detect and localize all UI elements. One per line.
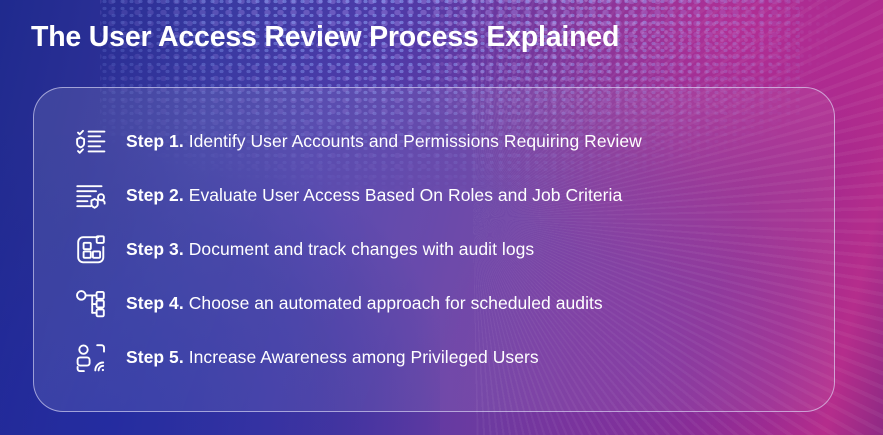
- list-item: Step 5.Increase Awareness among Privileg…: [74, 331, 834, 385]
- step-label: Step 5.: [126, 347, 184, 367]
- list-item-text: Step 3.Document and track changes with a…: [126, 239, 534, 260]
- list-item: Step 4.Choose an automated approach for …: [74, 277, 834, 331]
- steps-card: Step 1.Identify User Accounts and Permis…: [33, 87, 835, 412]
- user-broadcast-icon: [74, 341, 108, 375]
- blocks-panel-icon: [74, 233, 108, 267]
- list-item-text: Step 1.Identify User Accounts and Permis…: [126, 131, 642, 152]
- checklist-shield-icon: [74, 125, 108, 159]
- page-root: The User Access Review Process Explained…: [0, 0, 883, 435]
- hierarchy-flow-icon: [74, 287, 108, 321]
- list-item-text: Step 2.Evaluate User Access Based On Rol…: [126, 185, 622, 206]
- list-item: Step 3.Document and track changes with a…: [74, 223, 834, 277]
- user-shield-list-icon: [74, 179, 108, 213]
- step-label: Step 4.: [126, 293, 184, 313]
- step-description: Choose an automated approach for schedul…: [189, 293, 603, 313]
- step-description: Evaluate User Access Based On Roles and …: [189, 185, 623, 205]
- list-item-text: Step 4.Choose an automated approach for …: [126, 293, 603, 314]
- page-title: The User Access Review Process Explained: [31, 21, 619, 54]
- step-description: Increase Awareness among Privileged User…: [189, 347, 539, 367]
- step-description: Identify User Accounts and Permissions R…: [189, 131, 642, 151]
- step-label: Step 3.: [126, 239, 184, 259]
- list-item: Step 2.Evaluate User Access Based On Rol…: [74, 169, 834, 223]
- list-item-text: Step 5.Increase Awareness among Privileg…: [126, 347, 539, 368]
- list-item: Step 1.Identify User Accounts and Permis…: [74, 115, 834, 169]
- step-description: Document and track changes with audit lo…: [189, 239, 535, 259]
- step-label: Step 1.: [126, 131, 184, 151]
- step-label: Step 2.: [126, 185, 184, 205]
